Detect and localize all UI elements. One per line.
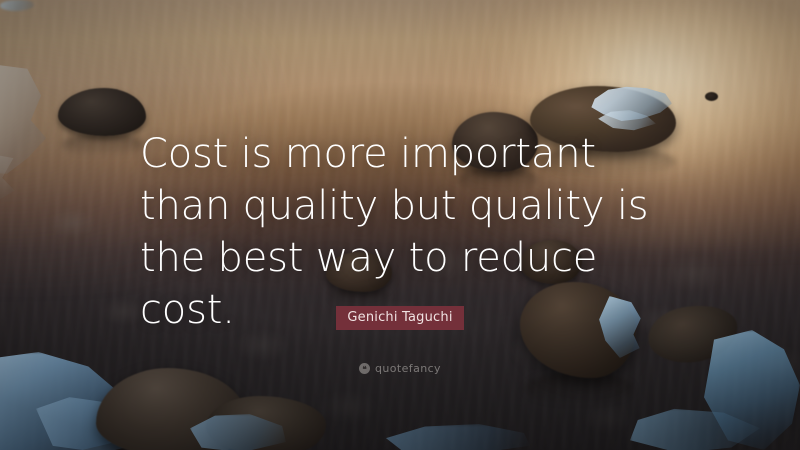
pebble-upper-right bbox=[705, 92, 718, 101]
rock-center bbox=[326, 252, 392, 292]
rock-upper-left bbox=[58, 88, 146, 136]
rock-center-left bbox=[452, 112, 538, 172]
rock-reflection-upper-left bbox=[62, 133, 144, 157]
quote-poster: Cost is more important than quality but … bbox=[0, 0, 800, 450]
background-photo bbox=[0, 0, 800, 450]
rock-center-right-small bbox=[520, 240, 582, 284]
